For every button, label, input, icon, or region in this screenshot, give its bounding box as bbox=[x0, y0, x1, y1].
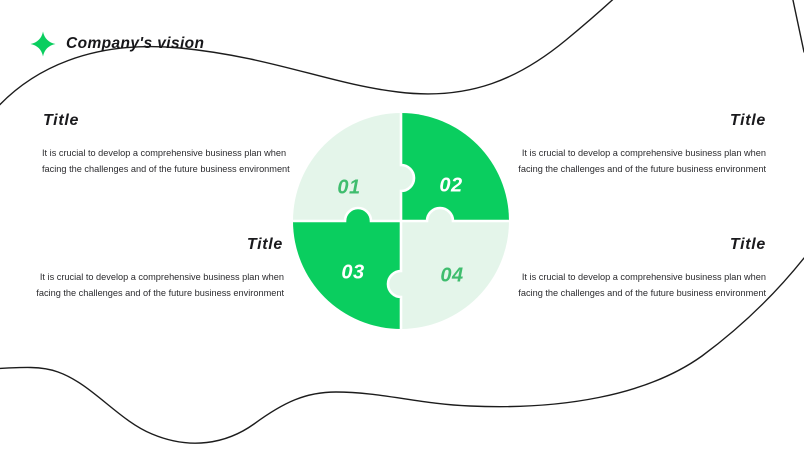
page-title: Company's vision bbox=[66, 35, 204, 53]
puzzle-label-01: 01 bbox=[337, 176, 360, 198]
top-right-curve-line bbox=[790, 0, 804, 52]
puzzle-label-02: 02 bbox=[439, 174, 462, 196]
block-title-bottom-left: Title bbox=[36, 236, 283, 254]
block-body-top-left: It is crucial to develop a comprehensive… bbox=[42, 146, 290, 177]
content-block-top-right: Title It is crucial to develop a compreh… bbox=[518, 112, 766, 177]
block-title-bottom-right: Title bbox=[518, 236, 766, 254]
content-block-top-left: Title It is crucial to develop a compreh… bbox=[42, 112, 290, 177]
block-title-top-right: Title bbox=[518, 112, 766, 130]
puzzle-piece-01[interactable] bbox=[293, 113, 414, 221]
puzzle-piece-02[interactable] bbox=[401, 113, 509, 221]
slide-header: Company's vision bbox=[30, 30, 204, 58]
puzzle-label-03: 03 bbox=[341, 261, 364, 283]
content-block-bottom-right: Title It is crucial to develop a compreh… bbox=[518, 236, 766, 301]
sparkle-star-icon bbox=[30, 31, 56, 57]
block-title-top-left: Title bbox=[43, 112, 290, 130]
block-body-bottom-right: It is crucial to develop a comprehensive… bbox=[518, 270, 766, 301]
top-curve-line bbox=[0, 0, 648, 118]
block-body-top-right: It is crucial to develop a comprehensive… bbox=[518, 146, 766, 177]
slide-canvas: Company's vision Title It is crucial to … bbox=[0, 0, 804, 452]
content-block-bottom-left: Title It is crucial to develop a compreh… bbox=[36, 236, 284, 301]
puzzle-wheel-svg: 01 02 03 04 bbox=[293, 113, 509, 329]
block-body-bottom-left: It is crucial to develop a comprehensive… bbox=[36, 270, 284, 301]
puzzle-label-04: 04 bbox=[440, 264, 463, 286]
puzzle-wheel-diagram: 01 02 03 04 bbox=[293, 113, 509, 329]
